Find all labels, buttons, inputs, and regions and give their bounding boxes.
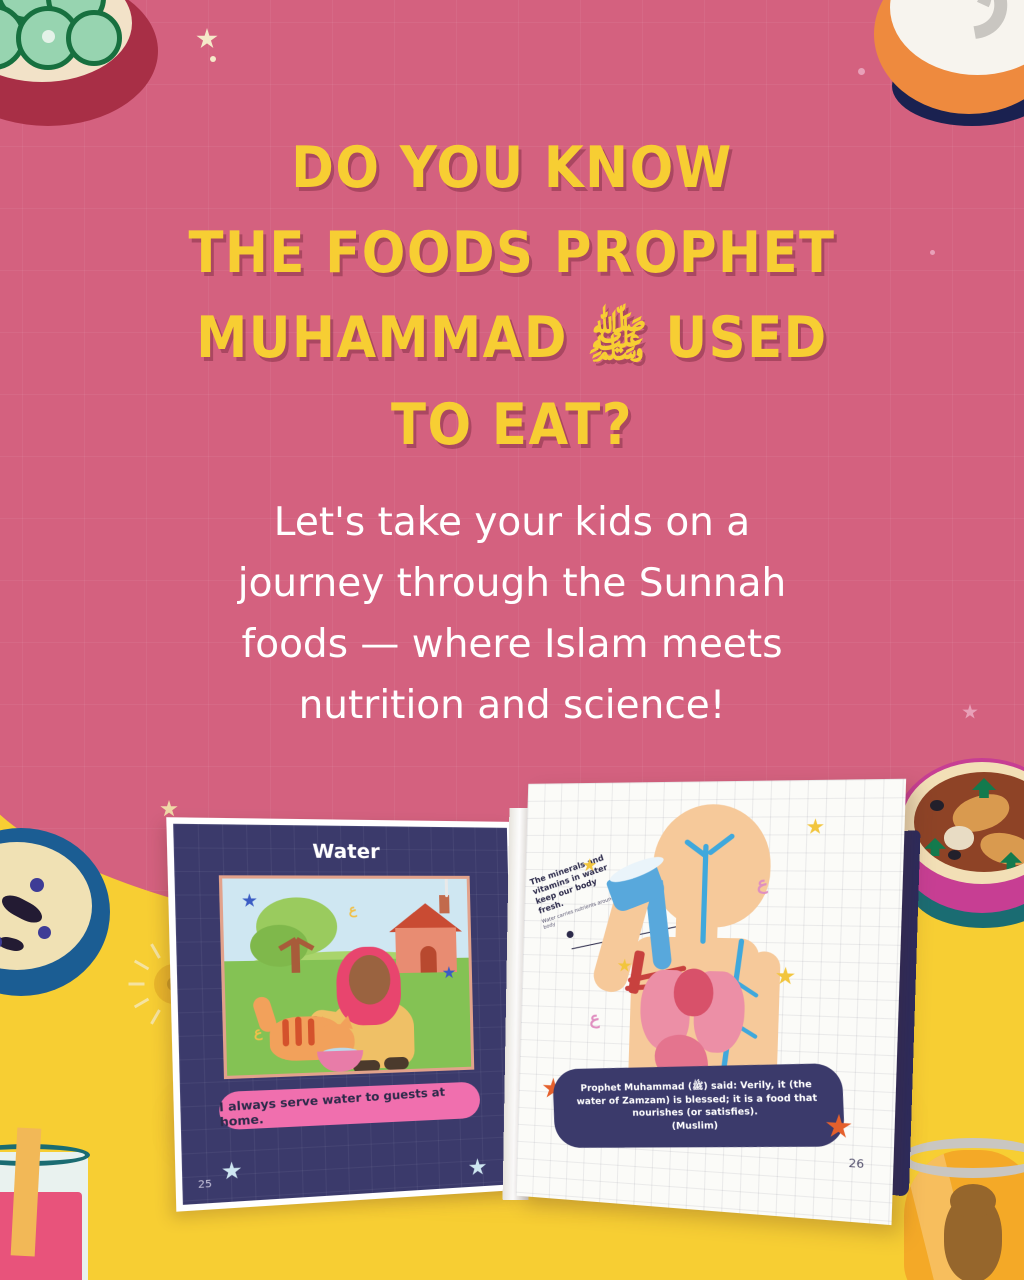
left-page-caption-text: I always serve water to guests at home. [218, 1082, 480, 1129]
swirl-doodle-icon: ع [254, 1024, 263, 1041]
porridge-bowl-illustration [0, 828, 122, 1013]
subheading-line-2: journey through the Sunnah [238, 561, 787, 606]
left-page-title: Water [174, 839, 508, 864]
sparkle-dot-icon [210, 56, 216, 62]
headline-muhammad: MUHAMMAD [196, 305, 568, 371]
subheading: Let's take your kids on a journey throug… [160, 492, 864, 736]
left-page-content: Water [173, 824, 515, 1205]
honey-jar-illustration [904, 1136, 1024, 1280]
star-sparkle-icon [222, 1161, 242, 1181]
book-mockup: Water [170, 760, 910, 1220]
left-page-number: 25 [198, 1179, 212, 1192]
star-sparkle-icon [468, 1158, 486, 1177]
yogurt-bowl-illustration [874, 0, 1024, 129]
swirl-doodle-icon: ع [349, 901, 357, 918]
hadith-quote-text: Prophet Muhammad (ﷺ) said: Verily, it (t… [553, 1078, 845, 1134]
headline-line-4: TO EAT? [0, 383, 1024, 468]
anatomy-illustration: ع ع [528, 779, 906, 784]
poster-canvas: DO YOU KNOW THE FOODS PROPHET MUHAMMAD ﷺ… [0, 0, 1024, 1280]
right-page-number: 26 [848, 1156, 864, 1171]
swirl-doodle-icon: ع [757, 873, 769, 894]
hadith-quote-body: Prophet Muhammad (ﷺ) said: Verily, it (t… [576, 1080, 817, 1119]
headline-line-3: MUHAMMAD ﷺ USED [0, 296, 1024, 383]
annotation-leader-dot [567, 931, 574, 938]
headline-line-1: DO YOU KNOW [0, 126, 1024, 211]
subheading-line-3: foods — where Islam meets [241, 622, 782, 667]
sparkle-dot-icon [858, 68, 865, 75]
sallallahu-alayhi-wasallam-glyph: ﷺ [587, 311, 647, 369]
subheading-line-1: Let's take your kids on a [274, 500, 750, 545]
hadith-quote-source: (Muslim) [672, 1121, 719, 1132]
juice-glass-illustration [0, 1130, 108, 1280]
headline-used: USED [666, 305, 828, 371]
swirl-doodle-icon: ع [589, 1008, 600, 1029]
cucumber-bowl-illustration [0, 0, 168, 138]
hadith-quote-bubble: Prophet Muhammad (ﷺ) said: Verily, it (t… [552, 1063, 845, 1148]
left-page-caption-bubble: I always serve water to guests at home. [218, 1082, 480, 1131]
subheading-line-4: nutrition and science! [299, 683, 726, 728]
star-sparkle-icon [806, 818, 824, 835]
book-left-page: Water [166, 817, 520, 1211]
water-scene-illustration: ع ع [218, 875, 473, 1079]
headline: DO YOU KNOW THE FOODS PROPHET MUHAMMAD ﷺ… [0, 126, 1024, 468]
headline-line-2: THE FOODS PROPHET [0, 211, 1024, 296]
book-right-page: The minerals and vitamins in water keep … [516, 779, 906, 1225]
